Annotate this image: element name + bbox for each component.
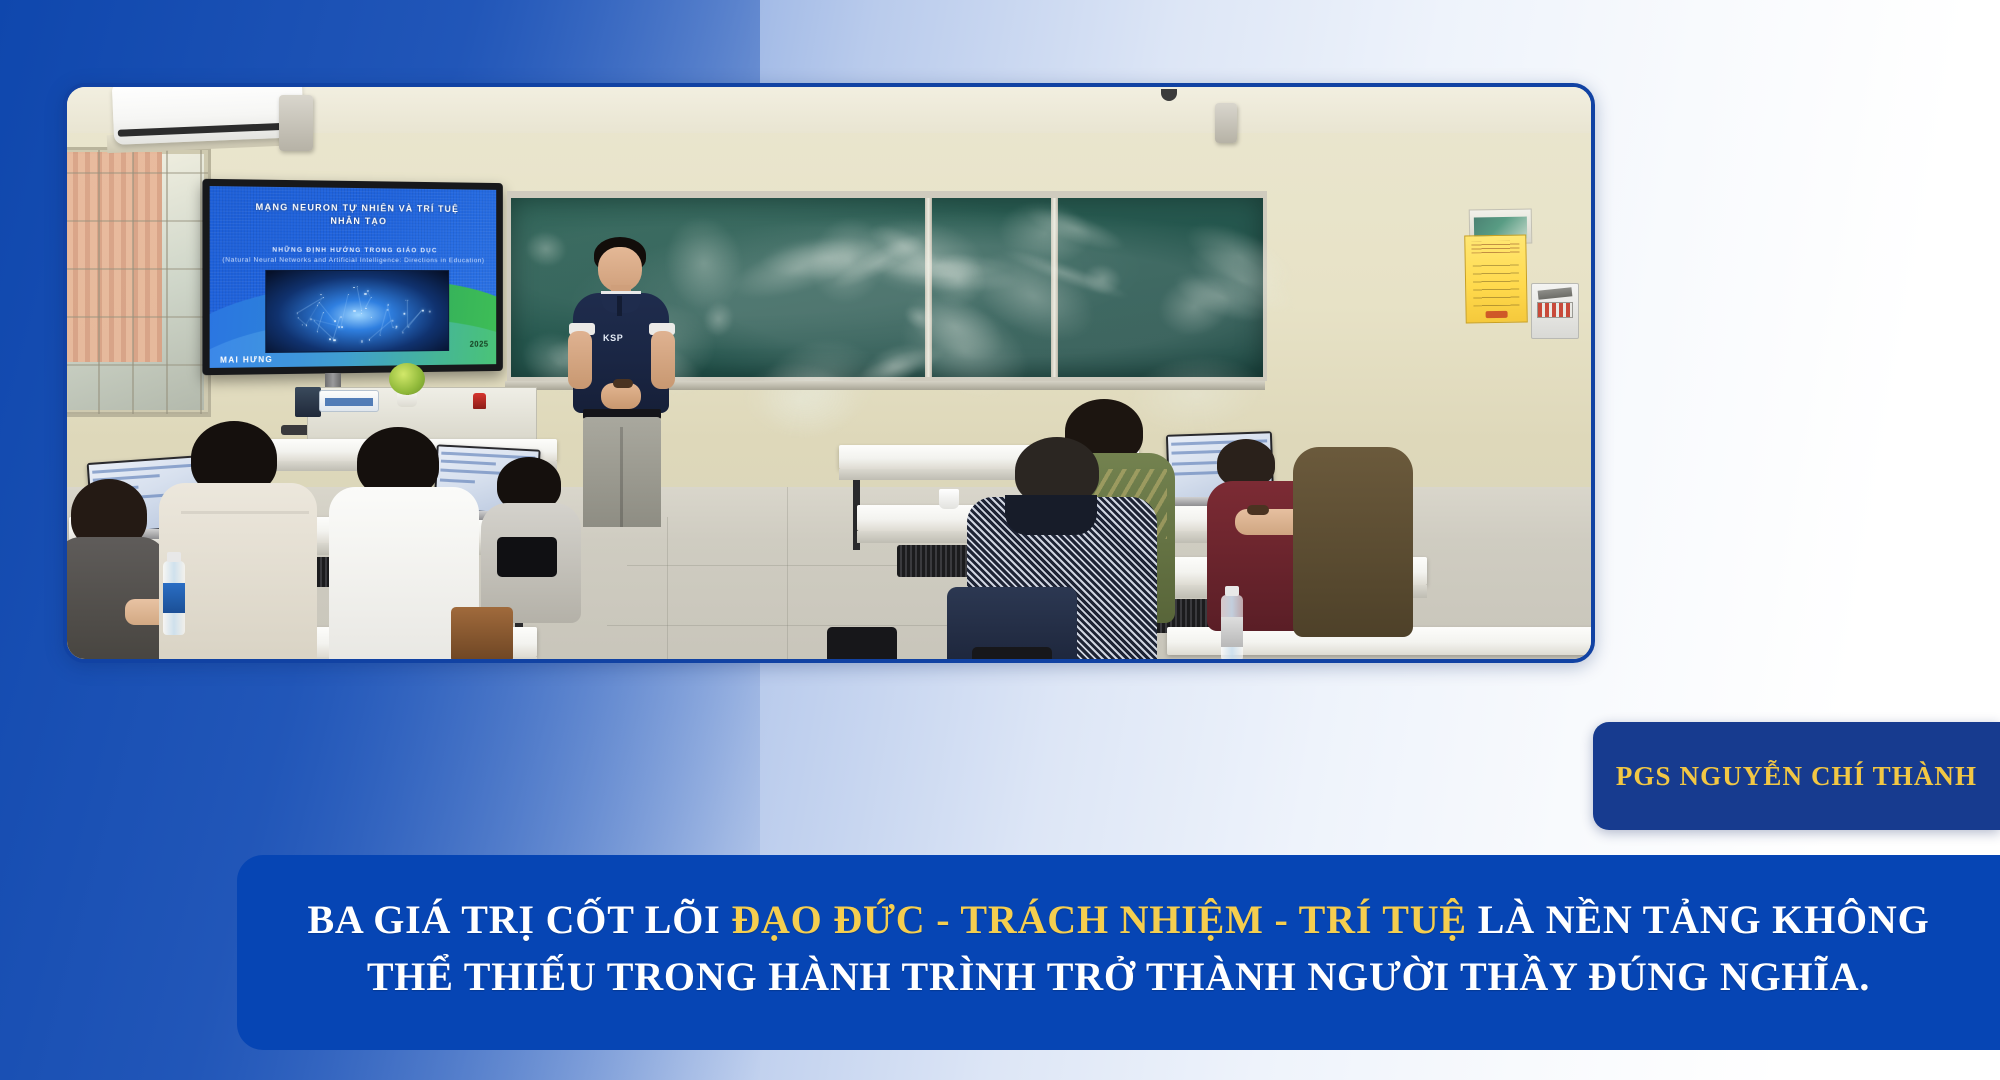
bottle-cap	[167, 552, 181, 562]
paper-cup-right	[939, 489, 959, 509]
presenter-collar	[601, 291, 641, 313]
caption-line-1-part-2: LÀ NỀN TẢNG KHÔNG	[1467, 897, 1930, 942]
wall-notice-poster	[1464, 234, 1528, 323]
slide-neuron-network-image	[265, 270, 449, 353]
air-conditioner	[112, 87, 304, 145]
caption-line-1: BA GIÁ TRỊ CỐT LÕI ĐẠO ĐỨC - TRÁCH NHIỆM…	[307, 892, 1929, 949]
slide-subtitle: NHỮNG ĐỊNH HƯỚNG TRONG GIÁO DỤC (Natural…	[222, 245, 486, 265]
floor-tile-line-4	[607, 625, 947, 626]
water-bottle-right	[1221, 595, 1243, 659]
slide-title-line-1: MẠNG NEURON TỰ NHIÊN VÀ TRÍ TUỆ	[233, 201, 479, 217]
leather-bag	[451, 607, 513, 659]
slide-year: 2025	[470, 340, 489, 349]
chair-right	[827, 627, 897, 659]
presenter-arm-right	[651, 331, 675, 389]
slide-screen: MẠNG NEURON TỰ NHIÊN VÀ TRÍ TUỆ NHÂN TẠO…	[210, 186, 497, 368]
presenter-trousers	[583, 417, 661, 527]
bottle-cap-2	[1225, 586, 1239, 596]
caption-bar: BA GIÁ TRỊ CỐT LÕI ĐẠO ĐỨC - TRÁCH NHIỆM…	[237, 855, 2000, 1050]
presenter-shirt-logo: KSP	[603, 333, 623, 343]
network-router	[319, 390, 379, 412]
window-bars	[67, 150, 208, 414]
bottle-label-2	[1221, 617, 1243, 647]
caption-line-1-part-1: BA GIÁ TRỊ CỐT LÕI	[307, 897, 731, 942]
potted-plant	[389, 363, 425, 395]
presenter-arm-left	[568, 331, 592, 389]
presentation-display: MẠNG NEURON TỰ NHIÊN VÀ TRÍ TUỆ NHÂN TẠO…	[202, 179, 502, 375]
slide-subtitle-en: (Natural Neural Networks and Artificial …	[222, 255, 486, 265]
notice-header	[1471, 241, 1519, 254]
presenter-person: KSP	[567, 237, 677, 527]
speaker-name: PGS NGUYỄN CHÍ THÀNH	[1616, 761, 1977, 792]
presenter-bracelet	[613, 379, 633, 388]
speaker-name-badge: PGS NGUYỄN CHÍ THÀNH	[1593, 722, 2000, 830]
water-bottle-left	[163, 561, 185, 635]
classroom-photo-card: MẠNG NEURON TỰ NHIÊN VÀ TRÍ TUỆ NHÂN TẠO…	[63, 83, 1595, 663]
notice-text-lines	[1473, 260, 1520, 307]
caption-line-1-highlight: ĐẠO ĐỨC - TRÁCH NHIỆM - TRÍ TUỆ	[731, 897, 1467, 942]
back-equipment-box	[295, 387, 321, 417]
caption-line-2: THỂ THIẾU TRONG HÀNH TRÌNH TRỞ THÀNH NGƯ…	[367, 949, 1870, 1006]
slide-author: MAI HƯNG	[220, 355, 273, 365]
electrical-panel	[1531, 283, 1579, 339]
bottle-label	[163, 583, 185, 613]
classroom-photo: MẠNG NEURON TỰ NHIÊN VÀ TRÍ TUỆ NHÂN TẠO…	[67, 87, 1591, 659]
poster-canvas: MẠNG NEURON TỰ NHIÊN VÀ TRÍ TUỆ NHÂN TẠO…	[0, 0, 2000, 1080]
floor-tile-line-1	[667, 517, 668, 659]
slide-title: MẠNG NEURON TỰ NHIÊN VÀ TRÍ TUỆ NHÂN TẠO	[233, 201, 479, 229]
slide-title-line-2: NHÂN TẠO	[233, 214, 479, 229]
chair-left	[497, 537, 557, 577]
notice-seal	[1486, 311, 1508, 318]
chair-right-2	[972, 647, 1052, 659]
window	[67, 147, 211, 417]
red-object	[473, 393, 486, 409]
speaker-right	[1215, 103, 1237, 143]
floor-tile-line-2	[787, 487, 788, 659]
floor-tile-line-3	[627, 565, 927, 566]
speaker-left	[279, 95, 313, 151]
